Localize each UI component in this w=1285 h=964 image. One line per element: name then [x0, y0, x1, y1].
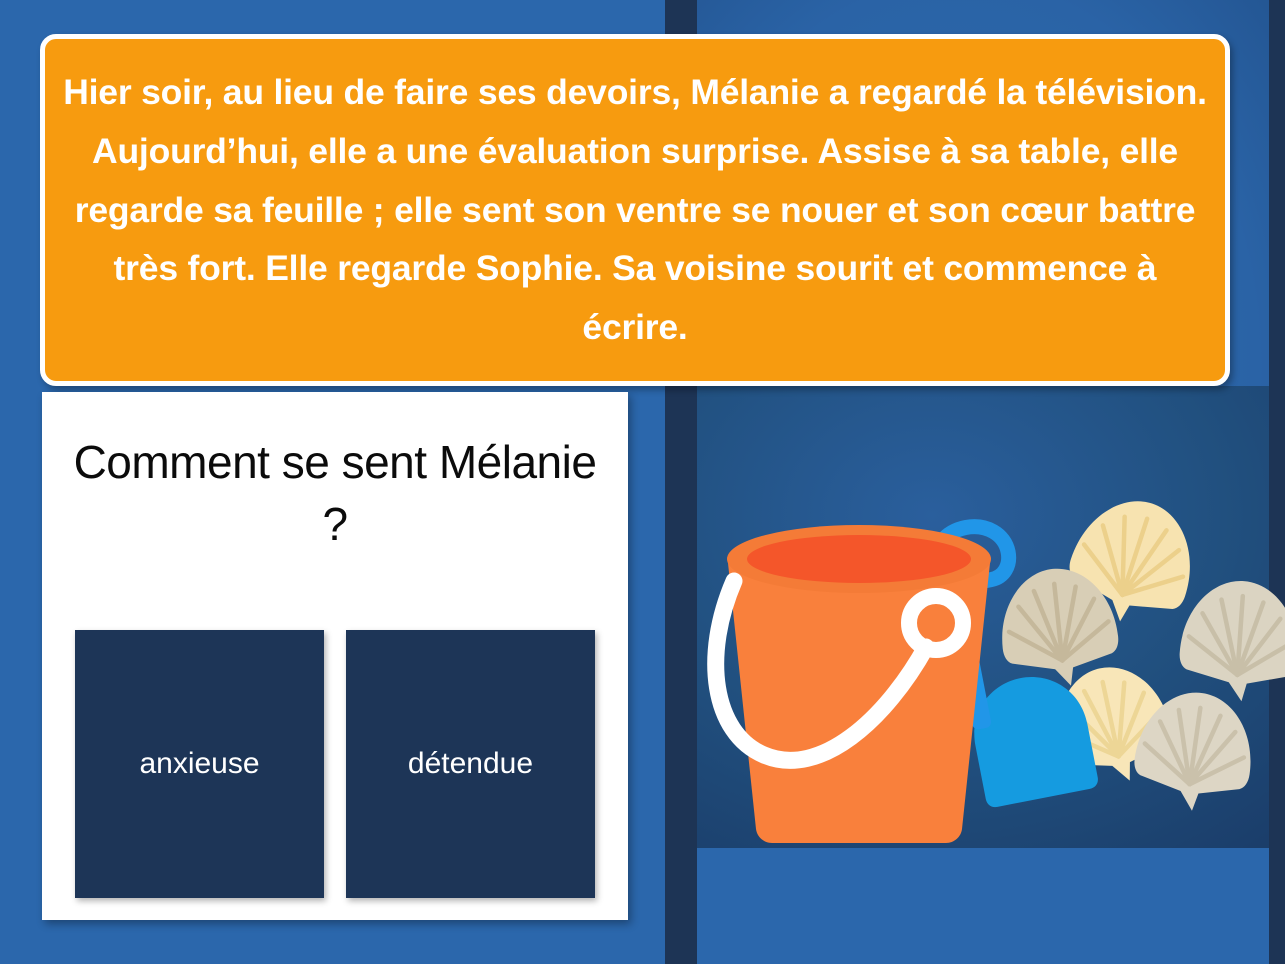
- answer-option-anxieuse[interactable]: anxieuse: [75, 630, 324, 898]
- story-text-box: Hier soir, au lieu de faire ses devoirs,…: [40, 34, 1230, 386]
- background-bottom-strip: [697, 848, 1285, 964]
- question-title: Comment se sent Mélanie ?: [42, 432, 628, 555]
- slide-canvas: Hier soir, au lieu de faire ses devoirs,…: [0, 0, 1285, 964]
- answer-options-row: anxieuse détendue: [75, 630, 595, 898]
- answer-option-label: anxieuse: [139, 747, 259, 781]
- background-right-edge: [1269, 0, 1285, 964]
- question-card: Comment se sent Mélanie ? anxieuse déten…: [42, 392, 628, 920]
- story-paragraph: Hier soir, au lieu de faire ses devoirs,…: [63, 63, 1207, 358]
- answer-option-detendue[interactable]: détendue: [346, 630, 595, 898]
- answer-option-label: détendue: [408, 747, 533, 781]
- background-panel-dark: [697, 386, 1285, 848]
